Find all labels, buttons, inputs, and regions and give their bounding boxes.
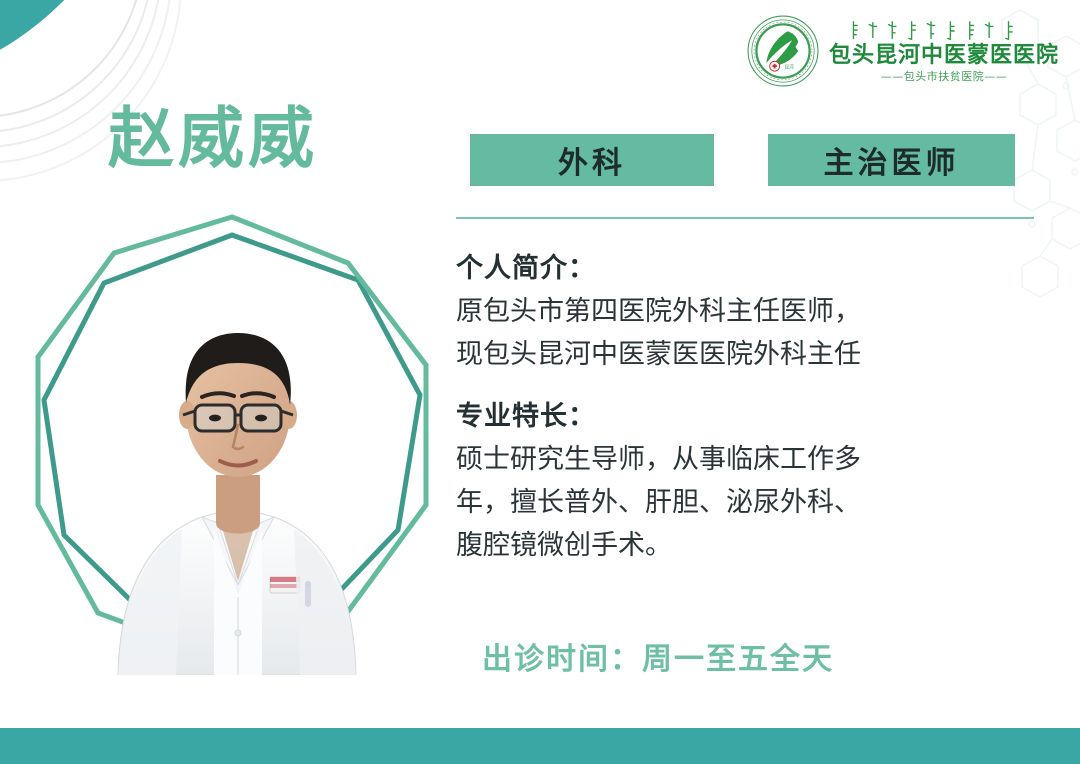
hospital-subtitle: ——包头市扶贫医院—— [881, 69, 1008, 84]
svg-text:昆河: 昆河 [785, 63, 795, 70]
specialty-line: 年，擅长普外、肝胆、泌尿外科、 [456, 481, 1046, 524]
profile-line: 现包头昆河中医蒙医医院外科主任 [456, 333, 1046, 376]
tag-row: 外科 主治医师 [470, 134, 1015, 186]
doctor-portrait-photo [110, 285, 360, 675]
hospital-logo: 昆河 包头昆河中医蒙医医院 ——包头市扶贫医院—— [745, 8, 1065, 94]
profile-line: 原包头市第四医院外科主任医师， [456, 290, 1046, 333]
mongolian-script-text [847, 19, 1041, 43]
tag-department[interactable]: 外科 [470, 134, 714, 186]
doctor-profile-card: 昆河 包头昆河中医蒙医医院 ——包头市扶贫医院—— 赵威威 [0, 0, 1080, 764]
clinic-hours: 出诊时间：周一至五全天 [482, 634, 834, 678]
specialty-line: 硕士研究生导师，从事临床工作多 [456, 438, 1046, 481]
tag-title[interactable]: 主治医师 [768, 134, 1015, 186]
portrait-block [28, 205, 436, 685]
profile-heading: 个人简介： [456, 248, 1046, 290]
teal-corner-shape [0, 0, 150, 90]
hospital-emblem-icon: 昆河 [745, 13, 821, 89]
teal-corner-shape-secondary [0, 0, 120, 90]
section-gap [456, 376, 1046, 396]
specialty-heading: 专业特长： [456, 396, 1046, 438]
doctor-name: 赵威威 [108, 100, 318, 178]
specialty-line: 腹腔镜微创手术。 [456, 524, 1046, 567]
bottom-teal-bar [0, 728, 1080, 764]
hospital-name: 包头昆河中医蒙医医院 [829, 43, 1059, 69]
divider [456, 217, 1034, 219]
info-block: 个人简介： 原包头市第四医院外科主任医师， 现包头昆河中医蒙医医院外科主任 专业… [456, 248, 1046, 567]
